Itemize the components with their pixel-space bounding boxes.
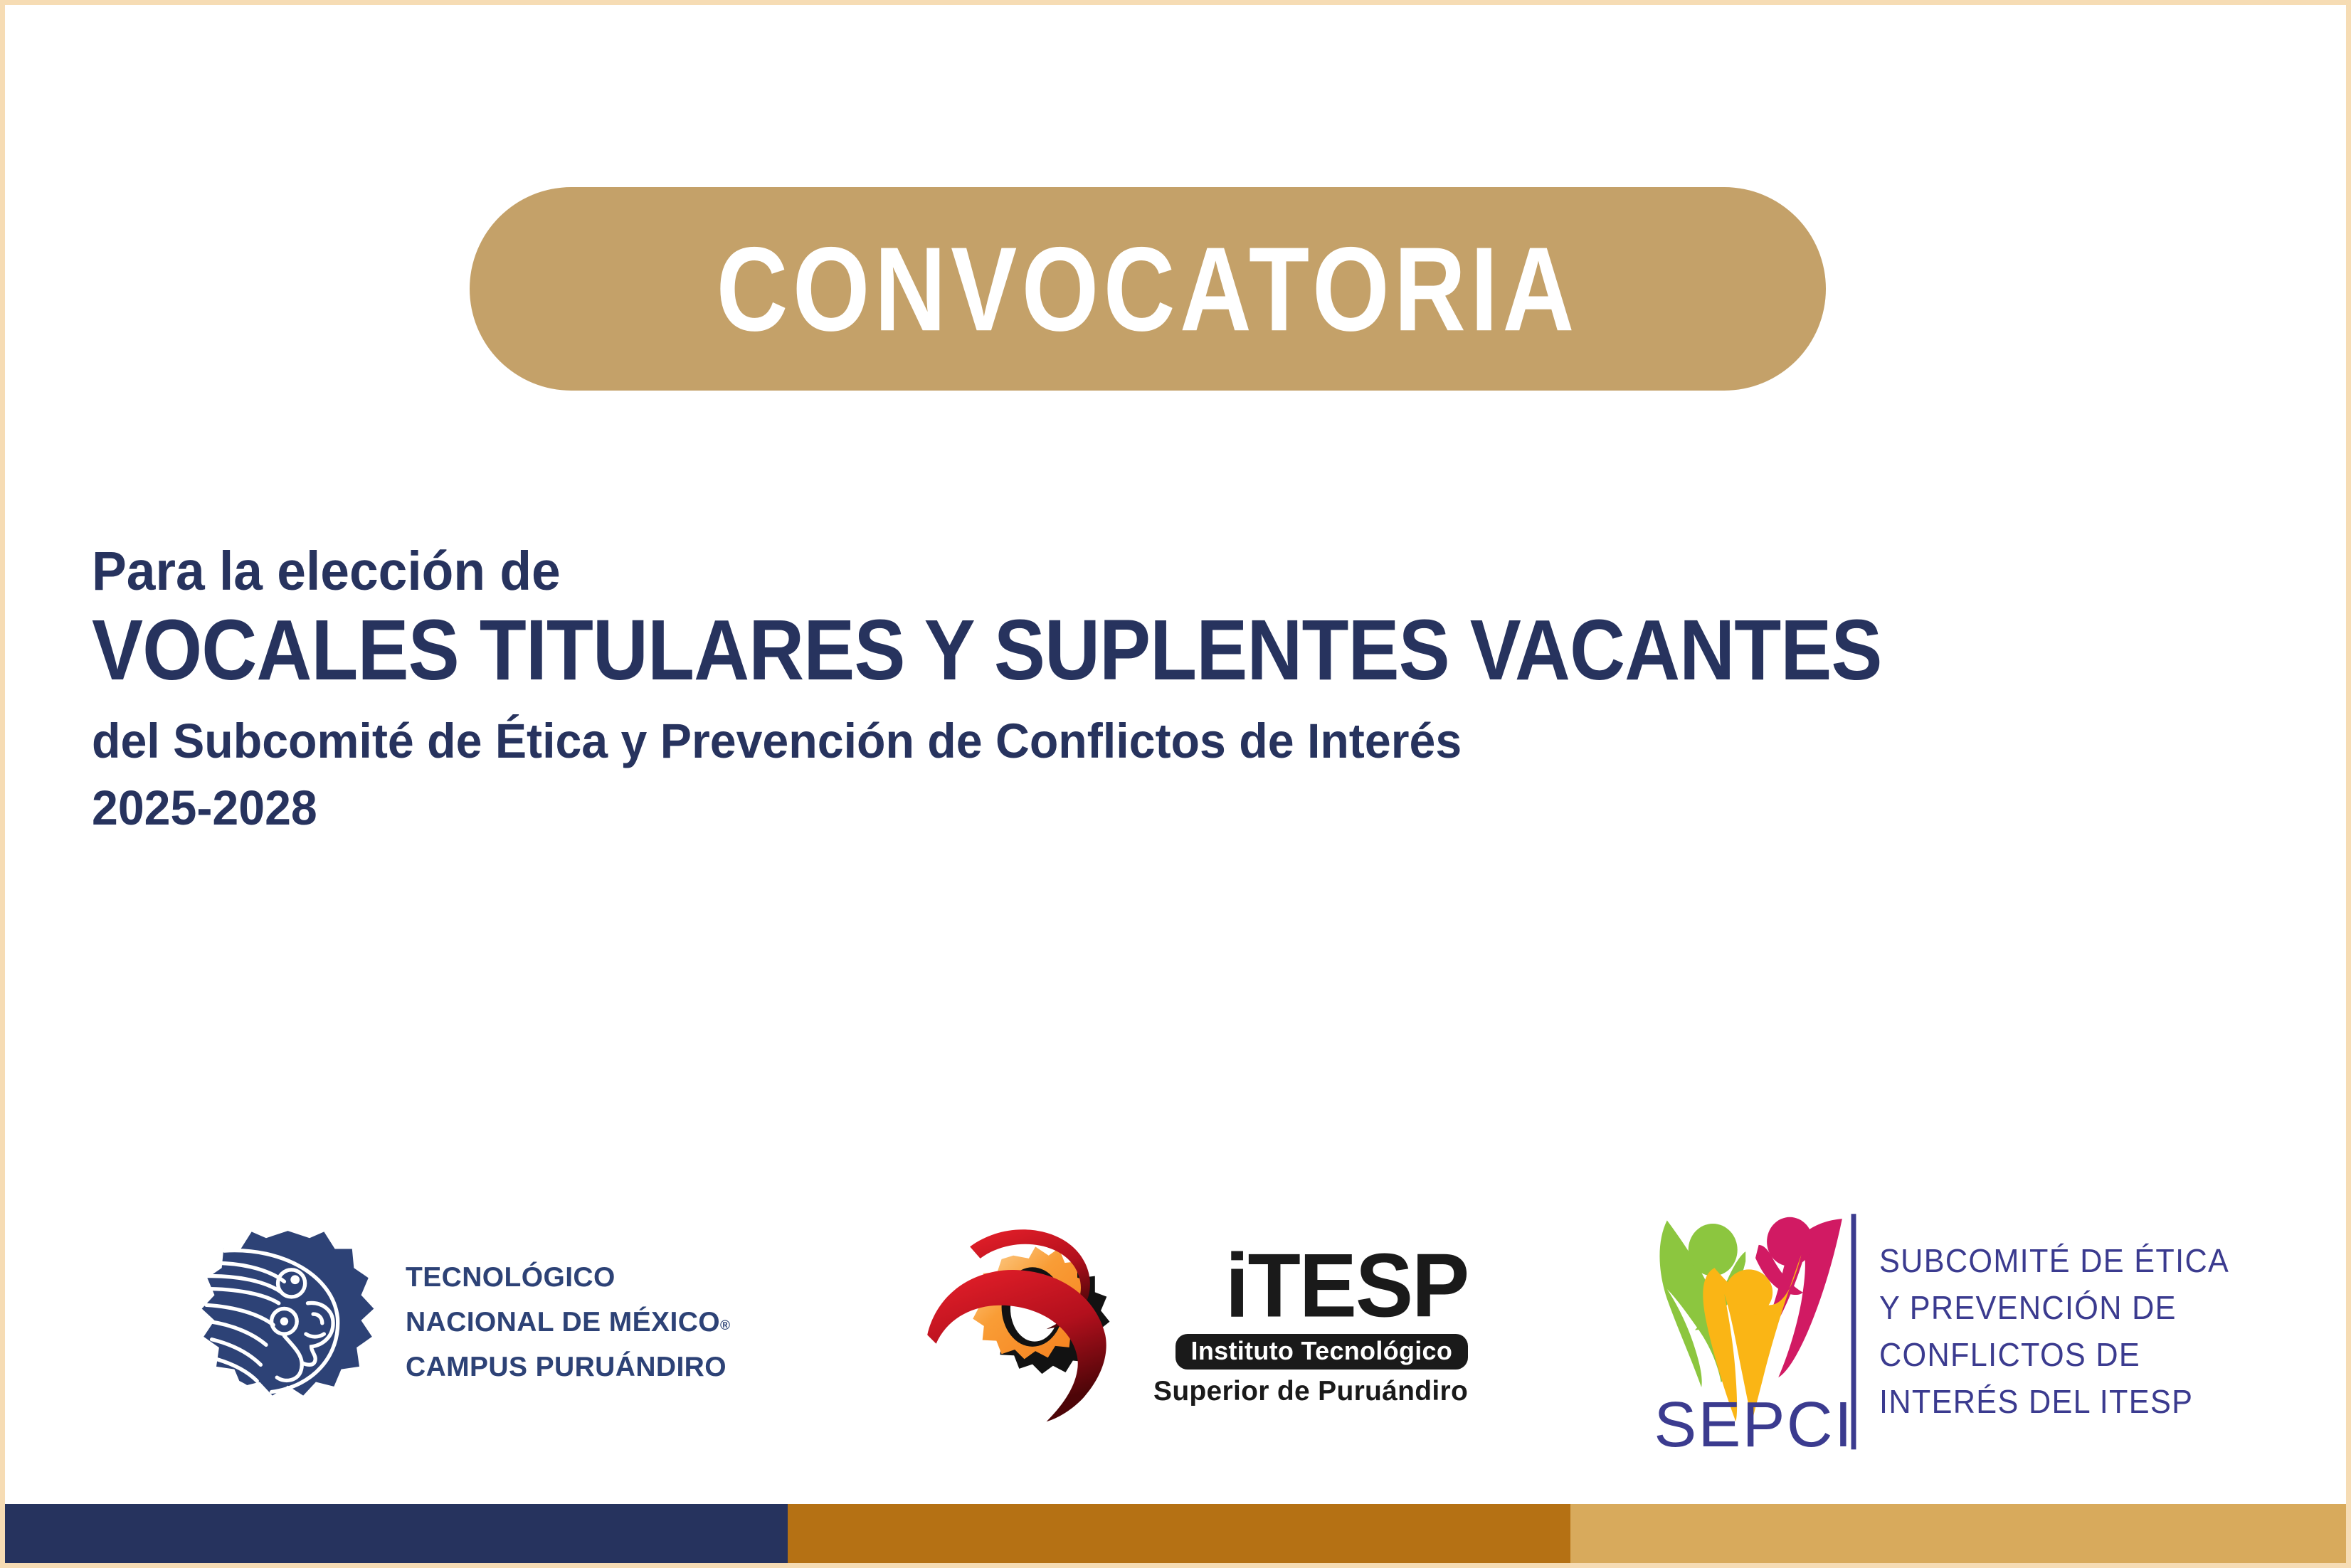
convocatoria-label: CONVOCATORIA (717, 229, 1579, 349)
sepci-desc-line-4: INTERÉS DEL ITESP (1879, 1379, 2229, 1426)
itesp-band-text: Instituto Tecnológico (1175, 1334, 1469, 1370)
bar-segment-gold (1570, 1504, 2351, 1563)
itesp-wordmark: iTESP Instituto Tecnológico Superior de … (1153, 1251, 1468, 1407)
itesp-mark: iTESP (1225, 1244, 1468, 1327)
tecnm-gear-aztec-head-icon (197, 1227, 379, 1417)
sepci-desc-line-3: CONFLICTOS DE (1879, 1332, 2229, 1379)
logo-tecnm: TECNOLÓGICO NACIONAL DE MÉXICO® CAMPUS P… (197, 1227, 730, 1417)
tecnm-line-1: TECNOLÓGICO (406, 1255, 730, 1300)
registered-mark-icon: ® (720, 1318, 730, 1333)
headline-preline: Para la elección de (92, 544, 2120, 599)
headline-years: 2025-2028 (92, 779, 2141, 837)
sepci-desc-line-2: Y PREVENCIÓN DE (1879, 1285, 2229, 1332)
itesp-sub-text: Superior de Puruándiro (1153, 1376, 1468, 1407)
svg-text:SEPCI: SEPCI (1654, 1389, 1854, 1453)
headline-subline: del Subcomité de Ética y Prevención de C… (92, 712, 2141, 770)
sepci-desc-line-1: SUBCOMITÉ DE ÉTICA (1879, 1238, 2229, 1285)
headline-block: Para la elección de VOCALES TITULARES Y … (92, 544, 2226, 837)
logo-itesp: iTESP Instituto Tecnológico Superior de … (923, 1217, 1468, 1441)
bar-segment-orange (788, 1504, 1570, 1563)
itesp-gear-orbit-icon (923, 1217, 1143, 1441)
convocatoria-poster: CONVOCATORIA Para la elección de VOCALES… (0, 0, 2351, 1568)
sepci-three-figures-icon: SEPCI (1649, 1207, 1862, 1456)
bottom-tricolor-bar (5, 1504, 2351, 1563)
logo-sepci: SEPCI SUBCOMITÉ DE ÉTICA Y PREVENCIÓN DE… (1649, 1207, 2252, 1456)
convocatoria-pill: CONVOCATORIA (470, 187, 1826, 391)
tecnm-wordmark: TECNOLÓGICO NACIONAL DE MÉXICO® CAMPUS P… (406, 1255, 730, 1390)
convocatoria-banner: CONVOCATORIA (470, 187, 1826, 391)
sepci-description: SUBCOMITÉ DE ÉTICA Y PREVENCIÓN DE CONFL… (1879, 1238, 2229, 1425)
headline-main: VOCALES TITULARES Y SUPLENTES VACANTES (92, 605, 2152, 694)
logo-row: TECNOLÓGICO NACIONAL DE MÉXICO® CAMPUS P… (5, 1207, 2351, 1463)
tecnm-line-3: CAMPUS PURUÁNDIRO (406, 1345, 730, 1389)
bar-segment-navy (5, 1504, 788, 1563)
tecnm-line-2: NACIONAL DE MÉXICO (406, 1307, 720, 1337)
tecnm-line-2-wrap: NACIONAL DE MÉXICO® (406, 1300, 730, 1345)
